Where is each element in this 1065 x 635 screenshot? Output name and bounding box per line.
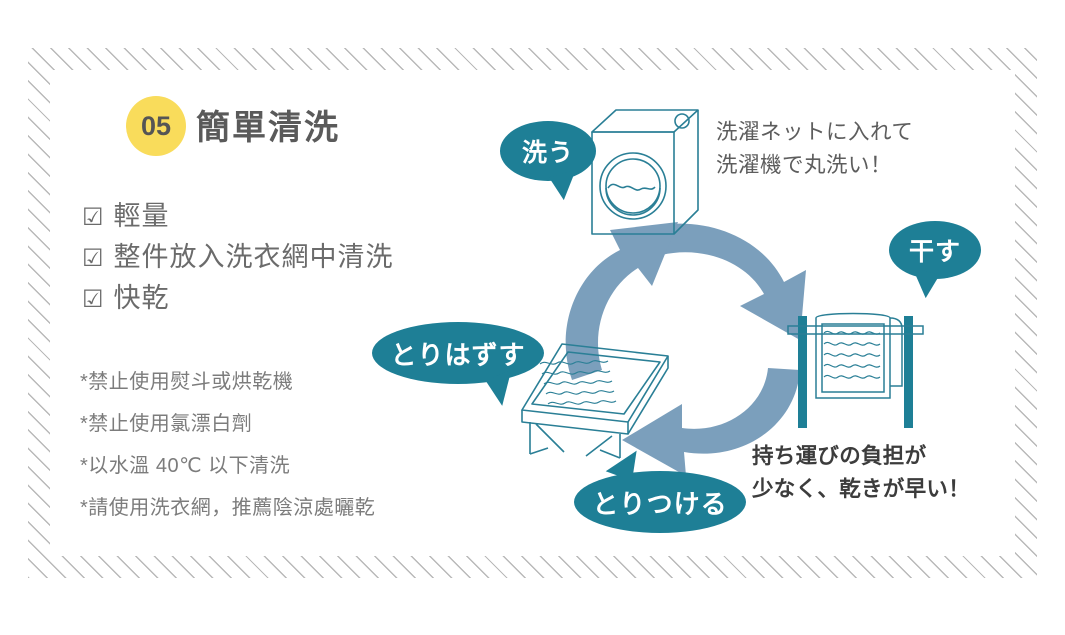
feature-checklist: ☑ 輕量 ☑ 整件放入洗衣網中清洗 ☑ 快乾 — [82, 196, 394, 319]
wash-caption: 洗濯ネットに入れて 洗濯機で丸洗い！ — [716, 116, 913, 181]
drying-rack-icon — [780, 300, 930, 432]
speech-bubble-dry: 干す — [889, 221, 981, 279]
dry-caption: 持ち運びの負担が 少なく、乾きが早い！ — [752, 440, 970, 507]
list-item-label: 快乾 — [114, 278, 170, 319]
checkbox-checked-icon: ☑ — [82, 288, 105, 312]
speech-bubble-remove-label: とりはずす — [390, 335, 525, 372]
speech-bubble-wash: 洗う — [500, 121, 596, 181]
dry-caption-line2: 少なく、乾きが早い！ — [752, 473, 970, 506]
speech-bubble-attach-label: とりつける — [592, 484, 727, 521]
care-note: *禁止使用熨斗或烘乾機 — [80, 372, 375, 392]
speech-bubble-wash-label: 洗う — [522, 133, 574, 169]
rack-post-right — [904, 316, 913, 428]
rack-post-left — [798, 316, 807, 428]
list-item: ☑ 整件放入洗衣網中清洗 — [82, 237, 394, 278]
checkbox-checked-icon: ☑ — [82, 206, 105, 230]
care-note: *以水溫 40℃ 以下清洗 — [80, 456, 375, 476]
section-number-text: 05 — [141, 113, 171, 140]
care-note: *禁止使用氯漂白劑 — [80, 414, 375, 434]
list-item-label: 整件放入洗衣網中清洗 — [114, 237, 394, 278]
care-note: *請使用洗衣網，推薦陰涼處曬乾 — [80, 498, 375, 518]
checkbox-checked-icon: ☑ — [82, 247, 105, 271]
wash-caption-line1: 洗濯ネットに入れて — [716, 116, 913, 149]
page-title: 簡單清洗 — [196, 100, 340, 149]
dry-caption-line1: 持ち運びの負担が — [752, 440, 970, 473]
list-item: ☑ 快乾 — [82, 278, 394, 319]
speech-bubble-attach: とりつける — [574, 471, 746, 533]
list-item: ☑ 輕量 — [82, 196, 394, 237]
list-item-label: 輕量 — [114, 196, 170, 237]
speech-bubble-dry-label: 干す — [909, 232, 961, 268]
section-number-badge: 05 — [126, 96, 186, 156]
infographic-canvas: 05 簡單清洗 ☑ 輕量 ☑ 整件放入洗衣網中清洗 ☑ 快乾 *禁止使用熨斗或烘… — [0, 0, 1065, 635]
speech-bubble-remove: とりはずす — [372, 322, 544, 384]
washing-machine-icon — [586, 104, 708, 244]
care-notes-list: *禁止使用熨斗或烘乾機 *禁止使用氯漂白劑 *以水溫 40℃ 以下清洗 *請使用… — [80, 372, 375, 540]
wash-caption-line2: 洗濯機で丸洗い！ — [716, 149, 913, 182]
